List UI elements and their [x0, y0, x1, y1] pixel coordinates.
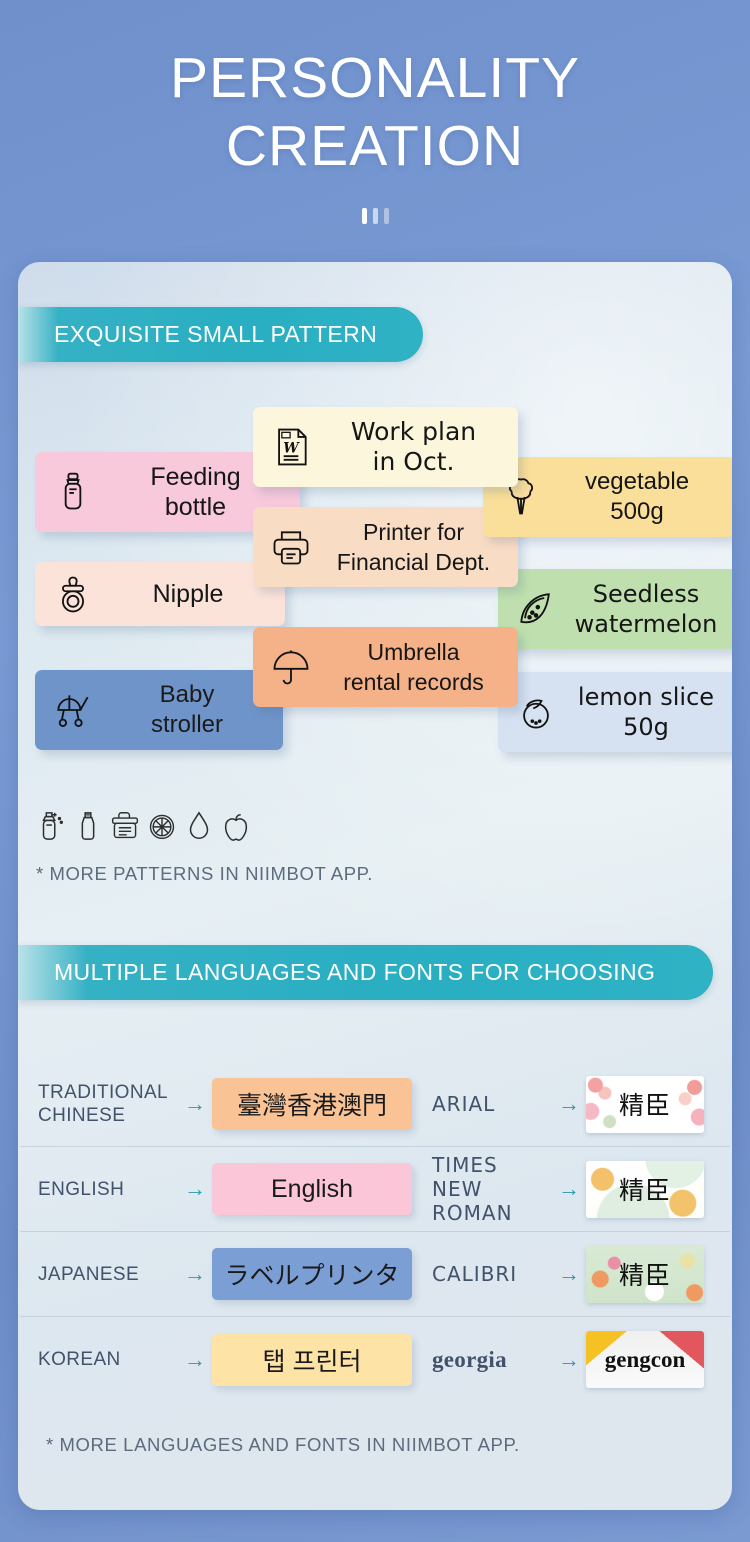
page-title-line1: PERSONALITY	[0, 44, 750, 112]
stroller-icon	[51, 688, 95, 732]
label-card-work-plan[interactable]: W Work plan in Oct.	[253, 407, 518, 487]
dot-1	[362, 208, 367, 224]
word-document-icon: W	[269, 425, 313, 469]
label-card-text: Printer for Financial Dept.	[325, 517, 502, 577]
language-sample-chip[interactable]: 탭 프린터	[212, 1334, 412, 1386]
font-name: georgia	[412, 1348, 552, 1372]
label-card-text: Seedless watermelon	[570, 579, 722, 639]
svg-text:W: W	[283, 441, 300, 457]
patterns-footnote: * MORE PATTERNS IN NIIMBOT APP.	[36, 863, 373, 885]
baby-bottle-icon	[51, 470, 95, 514]
section-badge-languages: MULTIPLE LANGUAGES AND FONTS FOR CHOOSIN…	[18, 945, 713, 1000]
language-sample-chip[interactable]: English	[212, 1163, 412, 1215]
label-card-text: Nipple	[107, 579, 269, 609]
label-card-lemon-slice[interactable]: lemon slice 50g	[498, 672, 732, 752]
dot-3	[384, 208, 389, 224]
language-sample-chip[interactable]: 臺灣香港澳門	[212, 1078, 412, 1130]
font-name: CALIBRI	[412, 1262, 552, 1286]
content-panel: EXQUISITE SMALL PATTERN Feeding bottle W	[18, 262, 732, 1510]
table-row[interactable]: ENGLISH → English TIMES NEW ROMAN → 精臣	[20, 1147, 730, 1232]
arrow-right-icon: →	[552, 1093, 586, 1115]
label-card-baby-stroller[interactable]: Baby stroller	[35, 670, 283, 750]
label-card-text: Umbrella rental records	[325, 637, 502, 697]
water-drop-icon	[184, 810, 214, 842]
font-name: ARIAL	[412, 1092, 552, 1116]
label-card-seedless-watermelon[interactable]: Seedless watermelon	[498, 569, 732, 649]
label-card-text: lemon slice 50g	[570, 682, 722, 742]
arrow-right-icon: →	[178, 1178, 212, 1200]
language-name: JAPANESE	[38, 1263, 178, 1286]
page-title: PERSONALITY CREATION	[0, 44, 750, 180]
arrow-right-icon: →	[178, 1263, 212, 1285]
page-header: PERSONALITY CREATION	[0, 0, 750, 224]
label-card-umbrella[interactable]: Umbrella rental records	[253, 627, 518, 707]
language-name: TRADITIONAL CHINESE	[38, 1081, 178, 1127]
name-tag-text: gengcon	[605, 1347, 686, 1373]
lemon-icon	[514, 690, 558, 734]
umbrella-icon	[269, 645, 313, 689]
pattern-icon-strip	[36, 810, 251, 842]
name-tag-preview[interactable]: gengcon	[586, 1331, 704, 1388]
label-card-text: Baby stroller	[107, 680, 267, 740]
arrow-right-icon: →	[178, 1349, 212, 1371]
name-tag-text: 精臣	[619, 1086, 671, 1122]
label-card-text: vegetable 500g	[555, 467, 719, 527]
language-font-table: TRADITIONAL CHINESE → 臺灣香港澳門 ARIAL → 精臣 …	[20, 1062, 730, 1402]
name-tag-preview[interactable]: 精臣	[586, 1246, 704, 1303]
page-title-line2: CREATION	[0, 112, 750, 180]
label-card-printer[interactable]: Printer for Financial Dept.	[253, 507, 518, 587]
label-card-text: Work plan in Oct.	[325, 417, 502, 477]
label-card-nipple[interactable]: Nipple	[35, 562, 285, 626]
table-row[interactable]: KOREAN → 탭 프린터 georgia → gengcon	[20, 1317, 730, 1402]
spray-bottle-icon	[36, 810, 66, 842]
languages-footnote: * MORE LANGUAGES AND FONTS IN NIIMBOT AP…	[46, 1434, 520, 1456]
name-tag-text: 精臣	[619, 1171, 671, 1207]
arrow-right-icon: →	[552, 1178, 586, 1200]
font-name: TIMES NEW ROMAN	[412, 1153, 552, 1225]
citrus-slice-icon	[147, 810, 177, 842]
printer-icon	[269, 525, 313, 569]
apple-icon	[221, 810, 251, 842]
language-sample-chip[interactable]: ラベルプリンタ	[212, 1248, 412, 1300]
dot-2	[373, 208, 378, 224]
watermelon-icon	[514, 587, 558, 631]
table-row[interactable]: TRADITIONAL CHINESE → 臺灣香港澳門 ARIAL → 精臣	[20, 1062, 730, 1147]
language-name: KOREAN	[38, 1348, 178, 1371]
name-tag-text: 精臣	[619, 1256, 671, 1292]
label-card-collage: Feeding bottle W Work plan in Oct.	[18, 262, 732, 762]
label-card-vegetable[interactable]: vegetable 500g	[483, 457, 732, 537]
arrow-right-icon: →	[552, 1263, 586, 1285]
name-tag-preview[interactable]: 精臣	[586, 1076, 704, 1133]
pagination-dots	[0, 208, 750, 224]
salt-shaker-icon	[73, 810, 103, 842]
name-tag-preview[interactable]: 精臣	[586, 1161, 704, 1218]
table-row[interactable]: JAPANESE → ラベルプリンタ CALIBRI → 精臣	[20, 1232, 730, 1317]
language-name: ENGLISH	[38, 1178, 178, 1201]
food-container-icon	[110, 810, 140, 842]
pacifier-icon	[51, 572, 95, 616]
arrow-right-icon: →	[178, 1093, 212, 1115]
arrow-right-icon: →	[552, 1349, 586, 1371]
